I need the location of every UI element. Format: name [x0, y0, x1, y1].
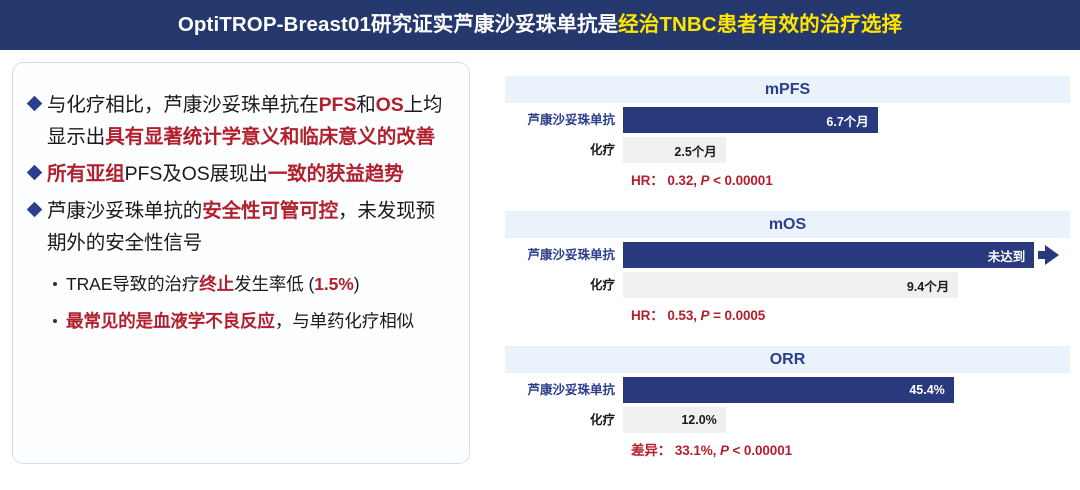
diamond-bullet-icon: [27, 165, 43, 181]
text-segment: 芦康沙妥珠单抗的: [47, 200, 202, 222]
bullet-text: 与化疗相比，芦康沙妥珠单抗在PFS和OS上均显示出具有显著统计学意义和临床意义的…: [47, 89, 453, 153]
chart-bar-row: 化疗2.5个月: [505, 137, 1070, 163]
stat-p-value: = 0.0005: [709, 308, 765, 323]
bar-track: 45.4%: [623, 377, 1070, 403]
bar-value-label: 6.7个月: [826, 111, 877, 130]
text-segment: 终止: [199, 274, 234, 294]
sub-bullet-list: TRAE导致的治疗终止发生率低 (1.5%)最常见的是血液学不良反应，与单药化疗…: [53, 269, 453, 336]
bar-track: 12.0%: [623, 407, 1070, 433]
bullet-item: 芦康沙妥珠单抗的安全性可管可控，未发现预期外的安全性信号: [27, 195, 453, 259]
title-highlight-text: 经治TNBC患者有效的治疗选择: [618, 13, 902, 36]
bar: 9.4个月: [623, 272, 958, 298]
bar: 2.5个月: [623, 137, 726, 163]
chart-header: mPFS: [505, 76, 1070, 103]
bullet-text: 所有亚组PFS及OS展现出一致的获益趋势: [47, 158, 453, 190]
key-findings-panel: 与化疗相比，芦康沙妥珠单抗在PFS和OS上均显示出具有显著统计学意义和临床意义的…: [12, 62, 470, 464]
text-segment: ，与单药化疗相似: [275, 311, 414, 331]
stat-prefix: HR： 0.53,: [631, 308, 701, 323]
text-segment: 发生率低 (: [234, 274, 314, 294]
dot-bullet-icon: [53, 282, 57, 286]
text-segment: PFS及OS展现出: [125, 163, 268, 185]
bar-label-control: 化疗: [505, 414, 623, 427]
sub-bullet-text: TRAE导致的治疗终止发生率低 (1.5%): [66, 269, 453, 299]
text-segment: 所有亚组: [47, 163, 125, 185]
bar-label-control: 化疗: [505, 144, 623, 157]
bar-label-control: 化疗: [505, 279, 623, 292]
chart-title: mPFS: [765, 81, 810, 99]
bar: 6.7个月: [623, 107, 878, 133]
text-segment: ): [354, 274, 360, 294]
text-segment: 具有显著统计学意义: [105, 126, 280, 148]
text-segment: 和: [356, 94, 375, 116]
bar-label-experimental: 芦康沙妥珠单抗: [505, 114, 623, 127]
chart-bar-row: 化疗12.0%: [505, 407, 1070, 433]
text-segment: 1.5%: [314, 274, 354, 294]
text-segment: 和临床意义的改善: [280, 126, 435, 148]
bullet-list: 与化疗相比，芦康沙妥珠单抗在PFS和OS上均显示出具有显著统计学意义和临床意义的…: [27, 89, 453, 259]
chart-header: ORR: [505, 346, 1070, 373]
stat-prefix: HR： 0.32,: [631, 173, 701, 188]
chart-card: mOS芦康沙妥珠单抗未达到化疗9.4个月HR： 0.53, P = 0.0005: [505, 211, 1070, 324]
sub-bullet-item: TRAE导致的治疗终止发生率低 (1.5%): [53, 269, 453, 299]
chart-title: mOS: [769, 216, 806, 234]
bar-label-experimental: 芦康沙妥珠单抗: [505, 249, 623, 262]
bar-value-label: 9.4个月: [907, 276, 958, 295]
chart-bar-row: 芦康沙妥珠单抗45.4%: [505, 377, 1070, 403]
stat-prefix: 差异： 33.1%,: [631, 443, 720, 458]
arrow-right-icon: [1045, 245, 1059, 265]
dot-bullet-icon: [53, 319, 57, 323]
bar-value-label: 2.5个月: [674, 141, 725, 160]
bar: 12.0%: [623, 407, 726, 433]
bar: 45.4%: [623, 377, 954, 403]
sub-bullet-text: 最常见的是血液学不良反应，与单药化疗相似: [66, 306, 453, 336]
chart-statistics: 差异： 33.1%, P < 0.00001: [505, 439, 1070, 459]
sub-bullet-item: 最常见的是血液学不良反应，与单药化疗相似: [53, 306, 453, 336]
text-segment: OS: [376, 94, 404, 116]
bullet-item: 与化疗相比，芦康沙妥珠单抗在PFS和OS上均显示出具有显著统计学意义和临床意义的…: [27, 89, 453, 153]
chart-card: mPFS芦康沙妥珠单抗6.7个月化疗2.5个月HR： 0.32, P < 0.0…: [505, 76, 1070, 189]
text-segment: 安全性可管可控: [202, 200, 338, 222]
text-segment: 最常见的是血液学不良反应: [66, 311, 275, 331]
chart-header: mOS: [505, 211, 1070, 238]
text-segment: PFS: [319, 94, 357, 116]
slide-root: OptiTROP-Breast01研究证实芦康沙妥珠单抗是经治TNBC患者有效的…: [0, 0, 1080, 490]
bar-label-experimental: 芦康沙妥珠单抗: [505, 384, 623, 397]
chart-bar-row: 芦康沙妥珠单抗6.7个月: [505, 107, 1070, 133]
slide-title-bar: OptiTROP-Breast01研究证实芦康沙妥珠单抗是经治TNBC患者有效的…: [0, 0, 1080, 50]
text-segment: 一致的获益趋势: [268, 163, 404, 185]
chart-bar-row: 芦康沙妥珠单抗未达到: [505, 242, 1070, 268]
bullet-item: 所有亚组PFS及OS展现出一致的获益趋势: [27, 158, 453, 190]
diamond-bullet-icon: [27, 96, 43, 112]
efficacy-charts: mPFS芦康沙妥珠单抗6.7个月化疗2.5个月HR： 0.32, P < 0.0…: [505, 76, 1070, 481]
bar-track: 未达到: [623, 242, 1070, 268]
bar-value-label: 12.0%: [681, 413, 725, 427]
bar-value-label: 未达到: [988, 246, 1035, 265]
stat-p-value: < 0.00001: [729, 443, 792, 458]
chart-card: ORR芦康沙妥珠单抗45.4%化疗12.0%差异： 33.1%, P < 0.0…: [505, 346, 1070, 459]
chart-statistics: HR： 0.32, P < 0.00001: [505, 169, 1070, 189]
text-segment: 与化疗相比，芦康沙妥珠单抗在: [47, 94, 319, 116]
title-plain-text: OptiTROP-Breast01研究证实芦康沙妥珠单抗是: [178, 13, 618, 36]
bar-track: 2.5个月: [623, 137, 1070, 163]
bar: 未达到: [623, 242, 1034, 268]
stat-p-value: < 0.00001: [709, 173, 772, 188]
chart-title: ORR: [770, 351, 806, 369]
text-segment: TRAE导致的治疗: [66, 274, 199, 294]
bar-track: 6.7个月: [623, 107, 1070, 133]
stat-p-symbol: P: [720, 443, 729, 458]
bar-value-label: 45.4%: [909, 383, 953, 397]
chart-bar-row: 化疗9.4个月: [505, 272, 1070, 298]
diamond-bullet-icon: [27, 202, 43, 218]
page-title: OptiTROP-Breast01研究证实芦康沙妥珠单抗是经治TNBC患者有效的…: [178, 15, 902, 36]
bar-track: 9.4个月: [623, 272, 1070, 298]
bullet-text: 芦康沙妥珠单抗的安全性可管可控，未发现预期外的安全性信号: [47, 195, 453, 259]
chart-statistics: HR： 0.53, P = 0.0005: [505, 304, 1070, 324]
